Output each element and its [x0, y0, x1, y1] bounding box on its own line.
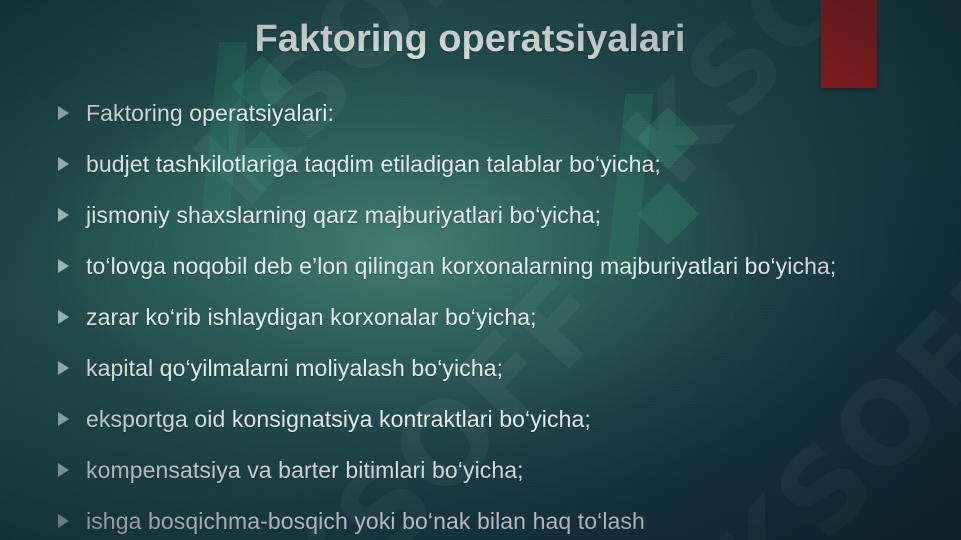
- bullet-triangle-icon: [58, 412, 69, 426]
- slide-title: Faktoring operatsiyalari: [0, 18, 940, 61]
- list-item-label: ishga bosqichma-bosqich yoki bo‘nak bila…: [86, 505, 645, 537]
- presentation-slide: KSOFF KSOFF KSOFF KSOFF Faktoring operat…: [0, 0, 961, 540]
- list-item: kompensatsiya va barter bitimlari bo‘yic…: [58, 454, 938, 486]
- list-item: eksportga oid konsignatsiya kontraktlari…: [58, 403, 938, 435]
- bullet-triangle-icon: [58, 463, 69, 477]
- list-item: budjet tashkilotlariga taqdim etiladigan…: [58, 148, 938, 180]
- bullet-triangle-icon: [58, 106, 69, 120]
- list-item: ishga bosqichma-bosqich yoki bo‘nak bila…: [58, 505, 938, 537]
- list-item-label: Faktoring operatsiyalari:: [86, 97, 334, 129]
- bullet-triangle-icon: [58, 208, 69, 222]
- bullet-triangle-icon: [58, 310, 69, 324]
- list-item-label: zarar ko‘rib ishlaydigan korxonalar bo‘y…: [86, 301, 537, 333]
- list-item: jismoniy shaxslarning qarz majburiyatlar…: [58, 199, 938, 231]
- list-item-label: budjet tashkilotlariga taqdim etiladigan…: [86, 148, 661, 180]
- list-item-label: eksportga oid konsignatsiya kontraktlari…: [86, 403, 591, 435]
- list-item: zarar ko‘rib ishlaydigan korxonalar bo‘y…: [58, 301, 938, 333]
- list-item-label: kompensatsiya va barter bitimlari bo‘yic…: [86, 454, 524, 486]
- bullet-triangle-icon: [58, 157, 69, 171]
- bullet-list: Faktoring operatsiyalari: budjet tashkil…: [58, 97, 938, 540]
- list-item-label: to‘lovga noqobil deb e’lon qilingan korx…: [86, 250, 836, 282]
- bullet-triangle-icon: [58, 361, 69, 375]
- list-item: Faktoring operatsiyalari:: [58, 97, 938, 129]
- bullet-triangle-icon: [58, 514, 69, 528]
- list-item: to‘lovga noqobil deb e’lon qilingan korx…: [58, 250, 938, 282]
- list-item: kapital qo‘yilmalarni moliyalash bo‘yich…: [58, 352, 938, 384]
- list-item-label: kapital qo‘yilmalarni moliyalash bo‘yich…: [86, 352, 503, 384]
- bullet-triangle-icon: [58, 259, 69, 273]
- list-item-label: jismoniy shaxslarning qarz majburiyatlar…: [86, 199, 601, 231]
